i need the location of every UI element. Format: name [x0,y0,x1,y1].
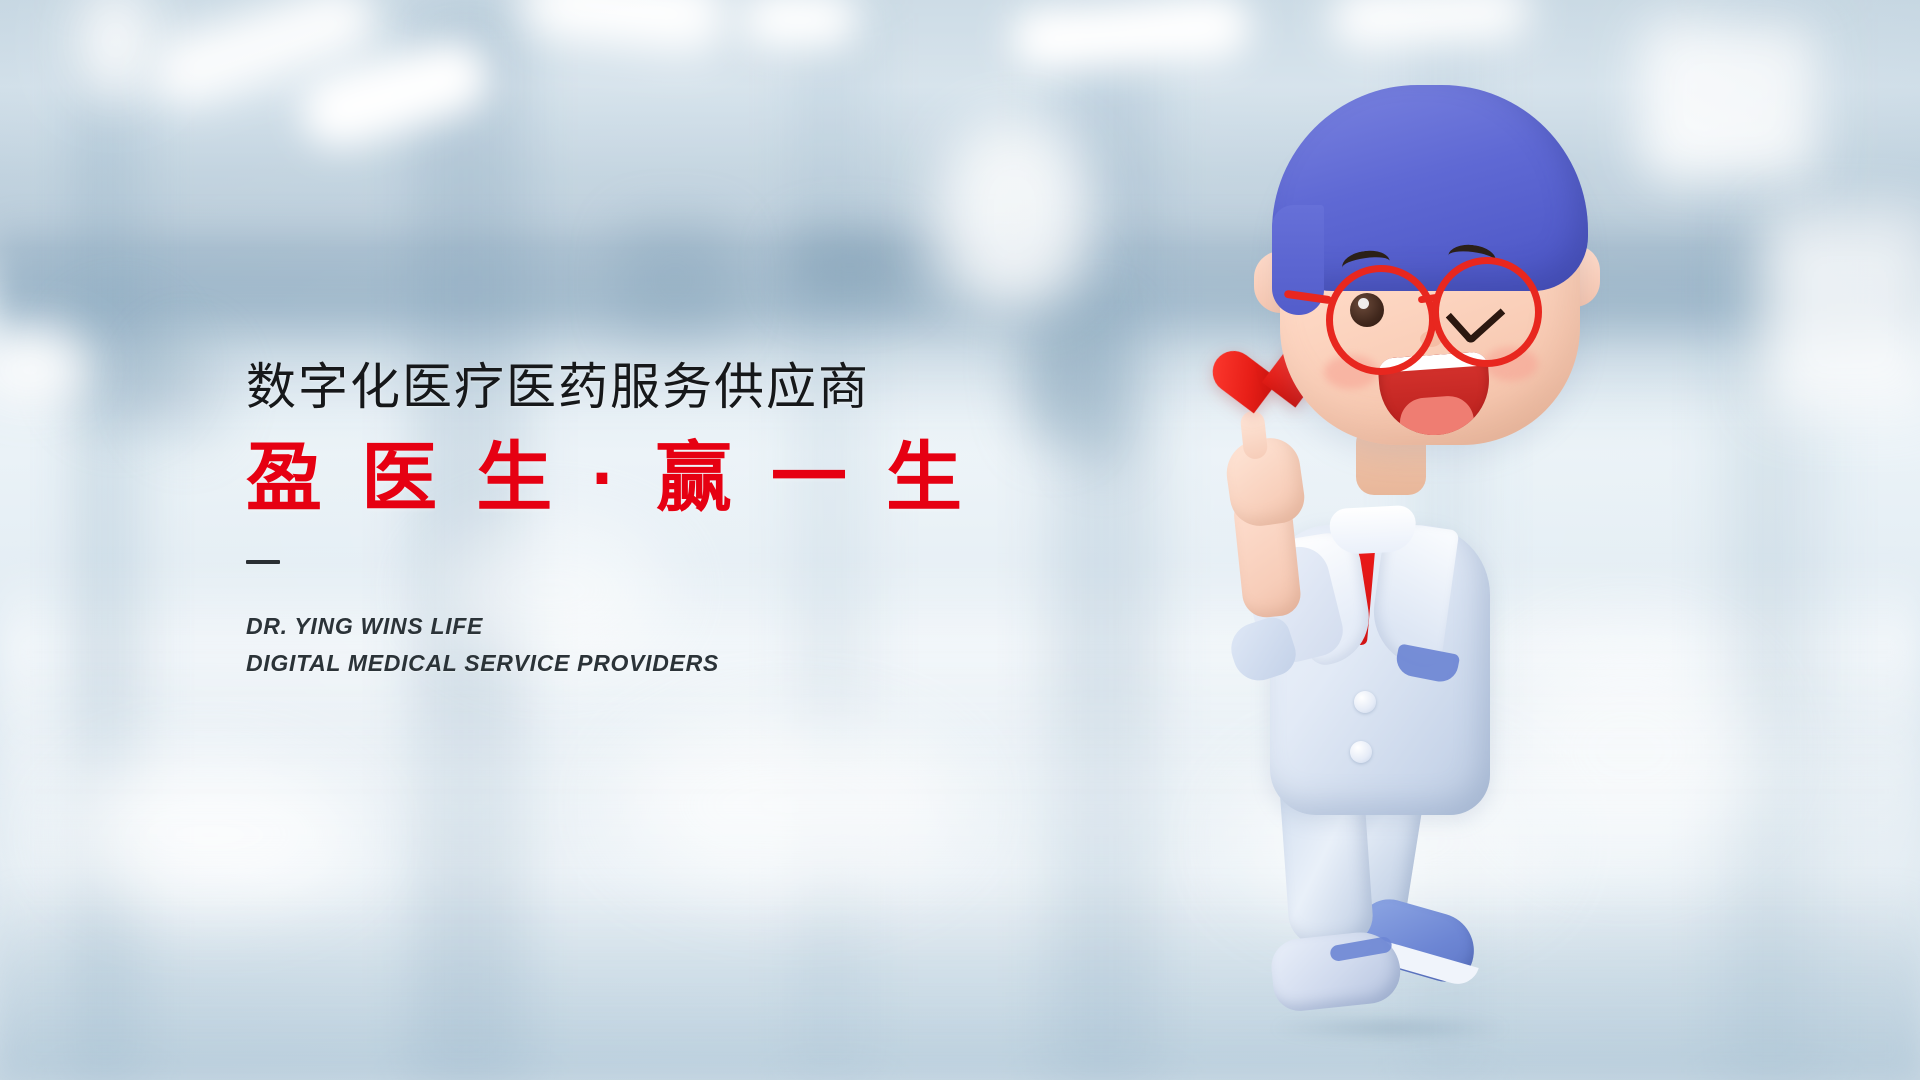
doctor-mascot-illustration [1180,55,1600,1015]
hero-copy-block: 数字化医疗医药服务供应商 盈 医 生 · 赢 一 生 DR. YING WINS… [246,360,1006,682]
mascot-coat-button [1350,741,1372,763]
divider-dash [246,560,280,564]
hero-slogan: 盈 医 生 · 赢 一 生 [246,439,1006,520]
mascot-tongue [1398,394,1475,438]
mascot-coat-button [1354,691,1376,713]
glasses-lens-left [1326,265,1436,375]
hero-headline: 数字化医疗医药服务供应商 [246,360,1006,415]
english-subtitle-line-1: DR. YING WINS LIFE [246,608,1006,645]
english-subtitle-block: DR. YING WINS LIFE DIGITAL MEDICAL SERVI… [246,608,1006,683]
hero-banner: 数字化医疗医药服务供应商 盈 医 生 · 赢 一 生 DR. YING WINS… [0,0,1920,1080]
glasses-lens-right [1432,257,1542,367]
mascot-ground-shadow [1270,1015,1510,1041]
english-subtitle-line-2: DIGITAL MEDICAL SERVICE PROVIDERS [246,645,1006,682]
